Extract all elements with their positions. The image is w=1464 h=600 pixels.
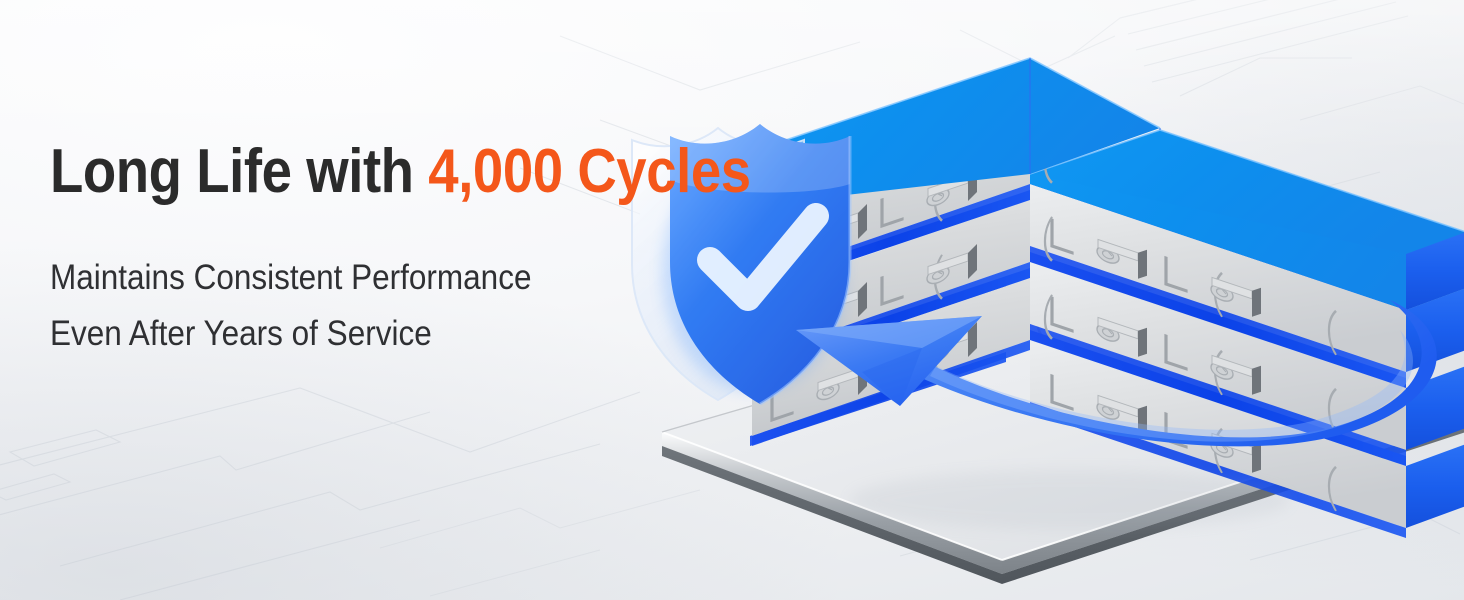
promo-banner: Long Life with 4,000 Cycles Maintains Co… [0, 0, 1464, 600]
subheadline-line-1: Maintains Consistent Performance [50, 250, 680, 305]
subheadline: Maintains Consistent Performance Even Af… [50, 250, 680, 361]
subheadline-line-2: Even After Years of Service [50, 306, 680, 361]
headline-accent: 4,000 Cycles [428, 137, 750, 206]
copy-block: Long Life with 4,000 Cycles Maintains Co… [50, 140, 750, 361]
headline-lead: Long Life with [50, 137, 428, 206]
page-title: Long Life with 4,000 Cycles [50, 140, 666, 204]
